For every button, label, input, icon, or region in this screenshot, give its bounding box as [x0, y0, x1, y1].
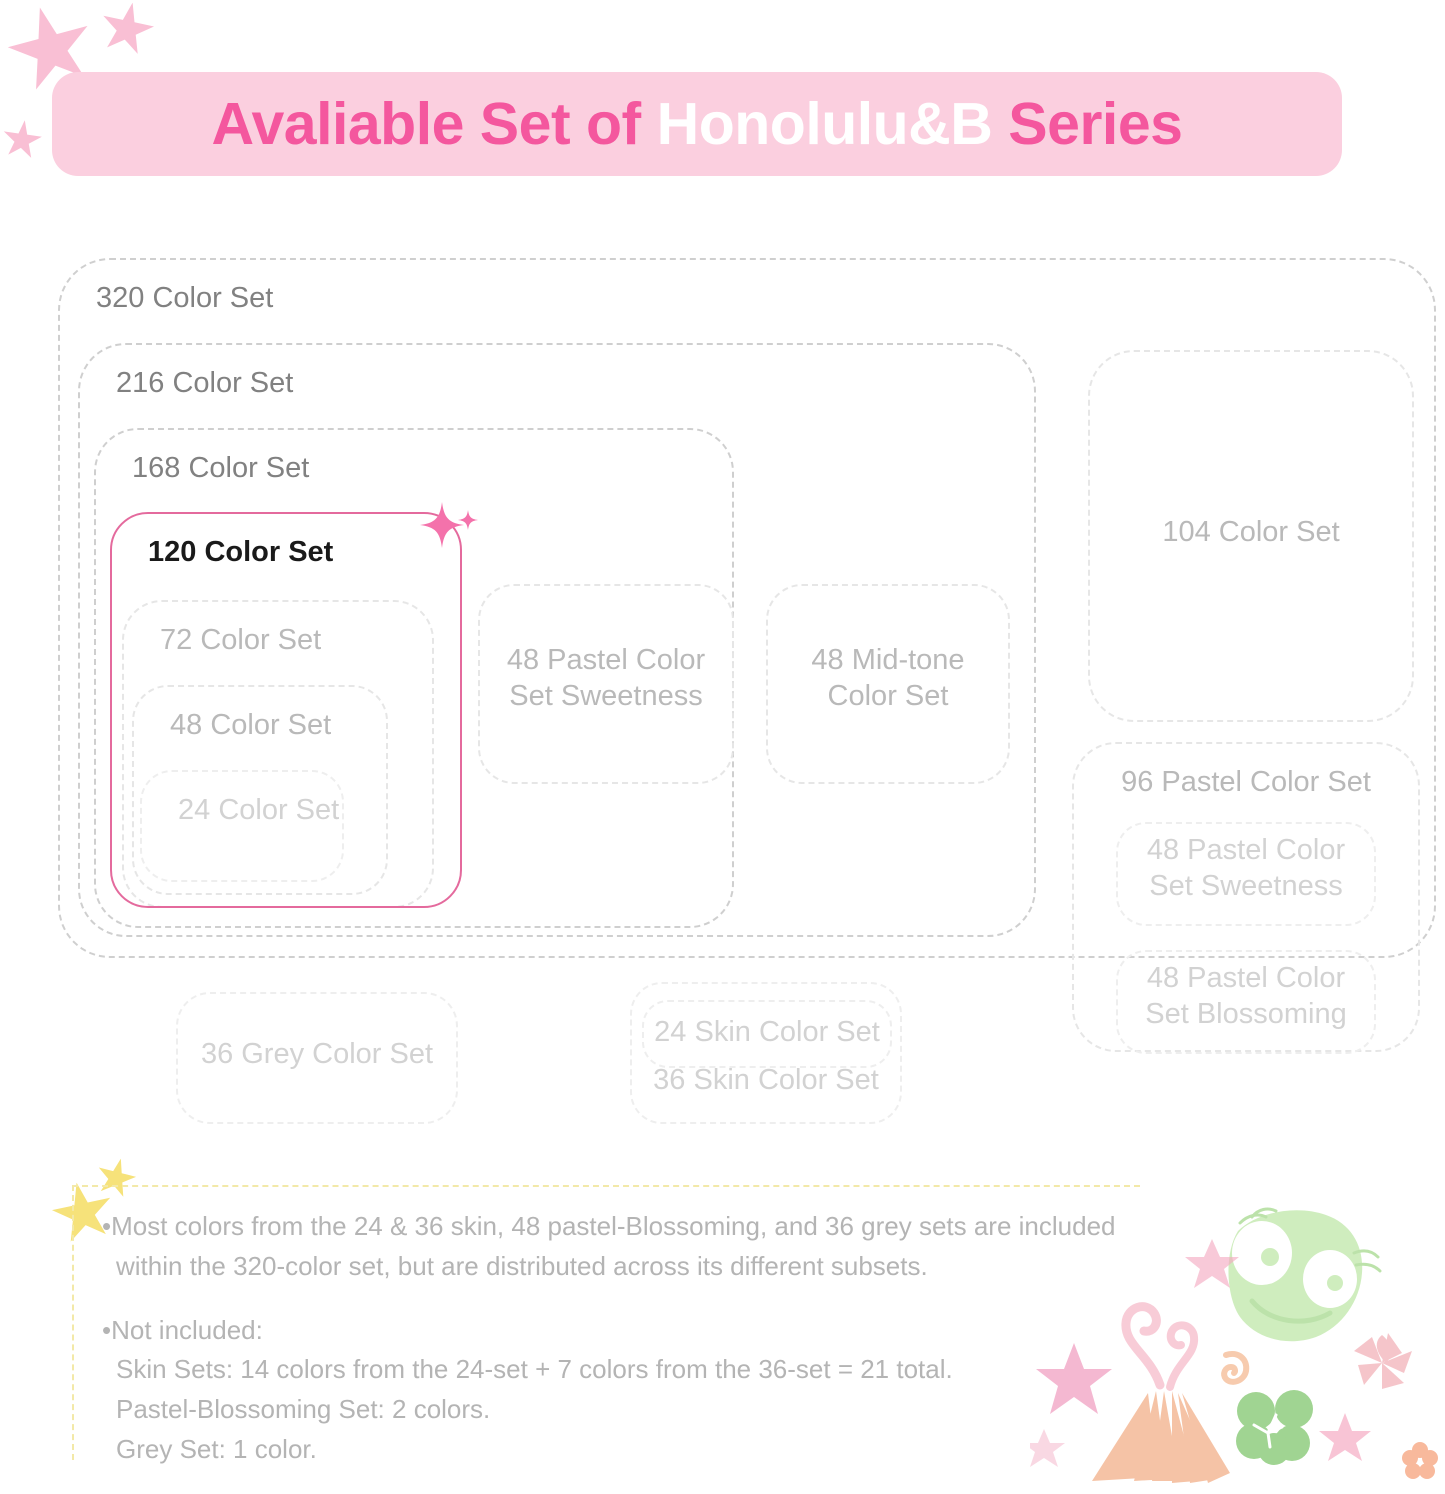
box-48-pastel-blossoming[interactable]: 48 Pastel Color Set Blossoming	[1116, 950, 1376, 1054]
box-48-pastel-blossoming-label: 48 Pastel Color Set Blossoming	[1118, 960, 1374, 1033]
box-120-color-set[interactable]: 120 Color Set	[110, 512, 462, 908]
shell-icon	[1224, 1354, 1246, 1382]
note-2-line-2: Skin Sets: 14 colors from the 24-set + 7…	[102, 1350, 1192, 1390]
box-48-midtone-color-set[interactable]: 48 Mid-tone Color Set	[766, 584, 1010, 784]
box-48-pastel-sweetness-right-line1: 48 Pastel Color	[1118, 832, 1374, 868]
chameleon-icon	[1228, 1209, 1380, 1341]
box-36-grey-label: 36 Grey Color Set	[178, 1036, 456, 1072]
note-block-2: •Not included: Skin Sets: 14 colors from…	[102, 1311, 1192, 1470]
box-24-skin-label: 24 Skin Color Set	[644, 1014, 890, 1050]
box-24-skin-color-set[interactable]: 24 Skin Color Set	[642, 1000, 892, 1068]
box-36-grey-color-set[interactable]: 36 Grey Color Set	[176, 992, 458, 1124]
box-48-pastel-sweetness-line1: 48 Pastel Color	[480, 642, 732, 678]
box-48-midtone-line1: 48 Mid-tone	[768, 642, 1008, 678]
note-1-line-2: within the 320-color set, but are distri…	[102, 1247, 1192, 1287]
note-2-line-3: Pastel-Blossoming Set: 2 colors.	[102, 1390, 1192, 1430]
box-48-pastel-sweetness-right-label: 48 Pastel Color Set Sweetness	[1118, 832, 1374, 905]
box-104-color-set[interactable]: 104 Color Set	[1088, 350, 1414, 722]
color-set-diagram: 320 Color Set 216 Color Set 168 Color Se…	[0, 0, 1445, 1160]
notes-panel: •Most colors from the 24 & 36 skin, 48 p…	[72, 1185, 1140, 1460]
box-320-label: 320 Color Set	[96, 280, 273, 316]
box-48-pastel-blossoming-line2: Set Blossoming	[1118, 996, 1374, 1032]
box-120-label: 120 Color Set	[148, 534, 333, 570]
sparkle-icon	[418, 498, 480, 560]
note-2-line-4: Grey Set: 1 color.	[102, 1430, 1192, 1470]
box-48-midtone-line2: Color Set	[768, 678, 1008, 714]
note-1-line-1: •Most colors from the 24 & 36 skin, 48 p…	[102, 1207, 1192, 1247]
notes-body: •Most colors from the 24 & 36 skin, 48 p…	[102, 1207, 1192, 1494]
box-48-pastel-blossoming-line1: 48 Pastel Color	[1118, 960, 1374, 996]
box-48-pastel-sweetness[interactable]: 48 Pastel Color Set Sweetness	[478, 584, 734, 784]
box-48-pastel-sweetness-right-line2: Set Sweetness	[1118, 868, 1374, 904]
clover-icon	[1236, 1390, 1313, 1465]
note-2-line-1: •Not included:	[102, 1311, 1192, 1351]
box-48-midtone-label: 48 Mid-tone Color Set	[768, 642, 1008, 715]
star-icon-deco-1	[1185, 1239, 1239, 1288]
flower-icon	[1354, 1333, 1412, 1389]
note-block-1: •Most colors from the 24 & 36 skin, 48 p…	[102, 1207, 1192, 1287]
box-48-pastel-sweetness-label: 48 Pastel Color Set Sweetness	[480, 642, 732, 715]
box-48-pastel-sweetness-right[interactable]: 48 Pastel Color Set Sweetness	[1116, 822, 1376, 926]
box-216-label: 216 Color Set	[116, 365, 293, 401]
flower-icon-small	[1402, 1442, 1438, 1479]
box-48-pastel-sweetness-line2: Set Sweetness	[480, 678, 732, 714]
box-168-label: 168 Color Set	[132, 450, 309, 486]
star-icon-deco-3	[1319, 1413, 1371, 1461]
box-104-label: 104 Color Set	[1090, 514, 1412, 550]
box-96-pastel-label: 96 Pastel Color Set	[1074, 764, 1418, 800]
